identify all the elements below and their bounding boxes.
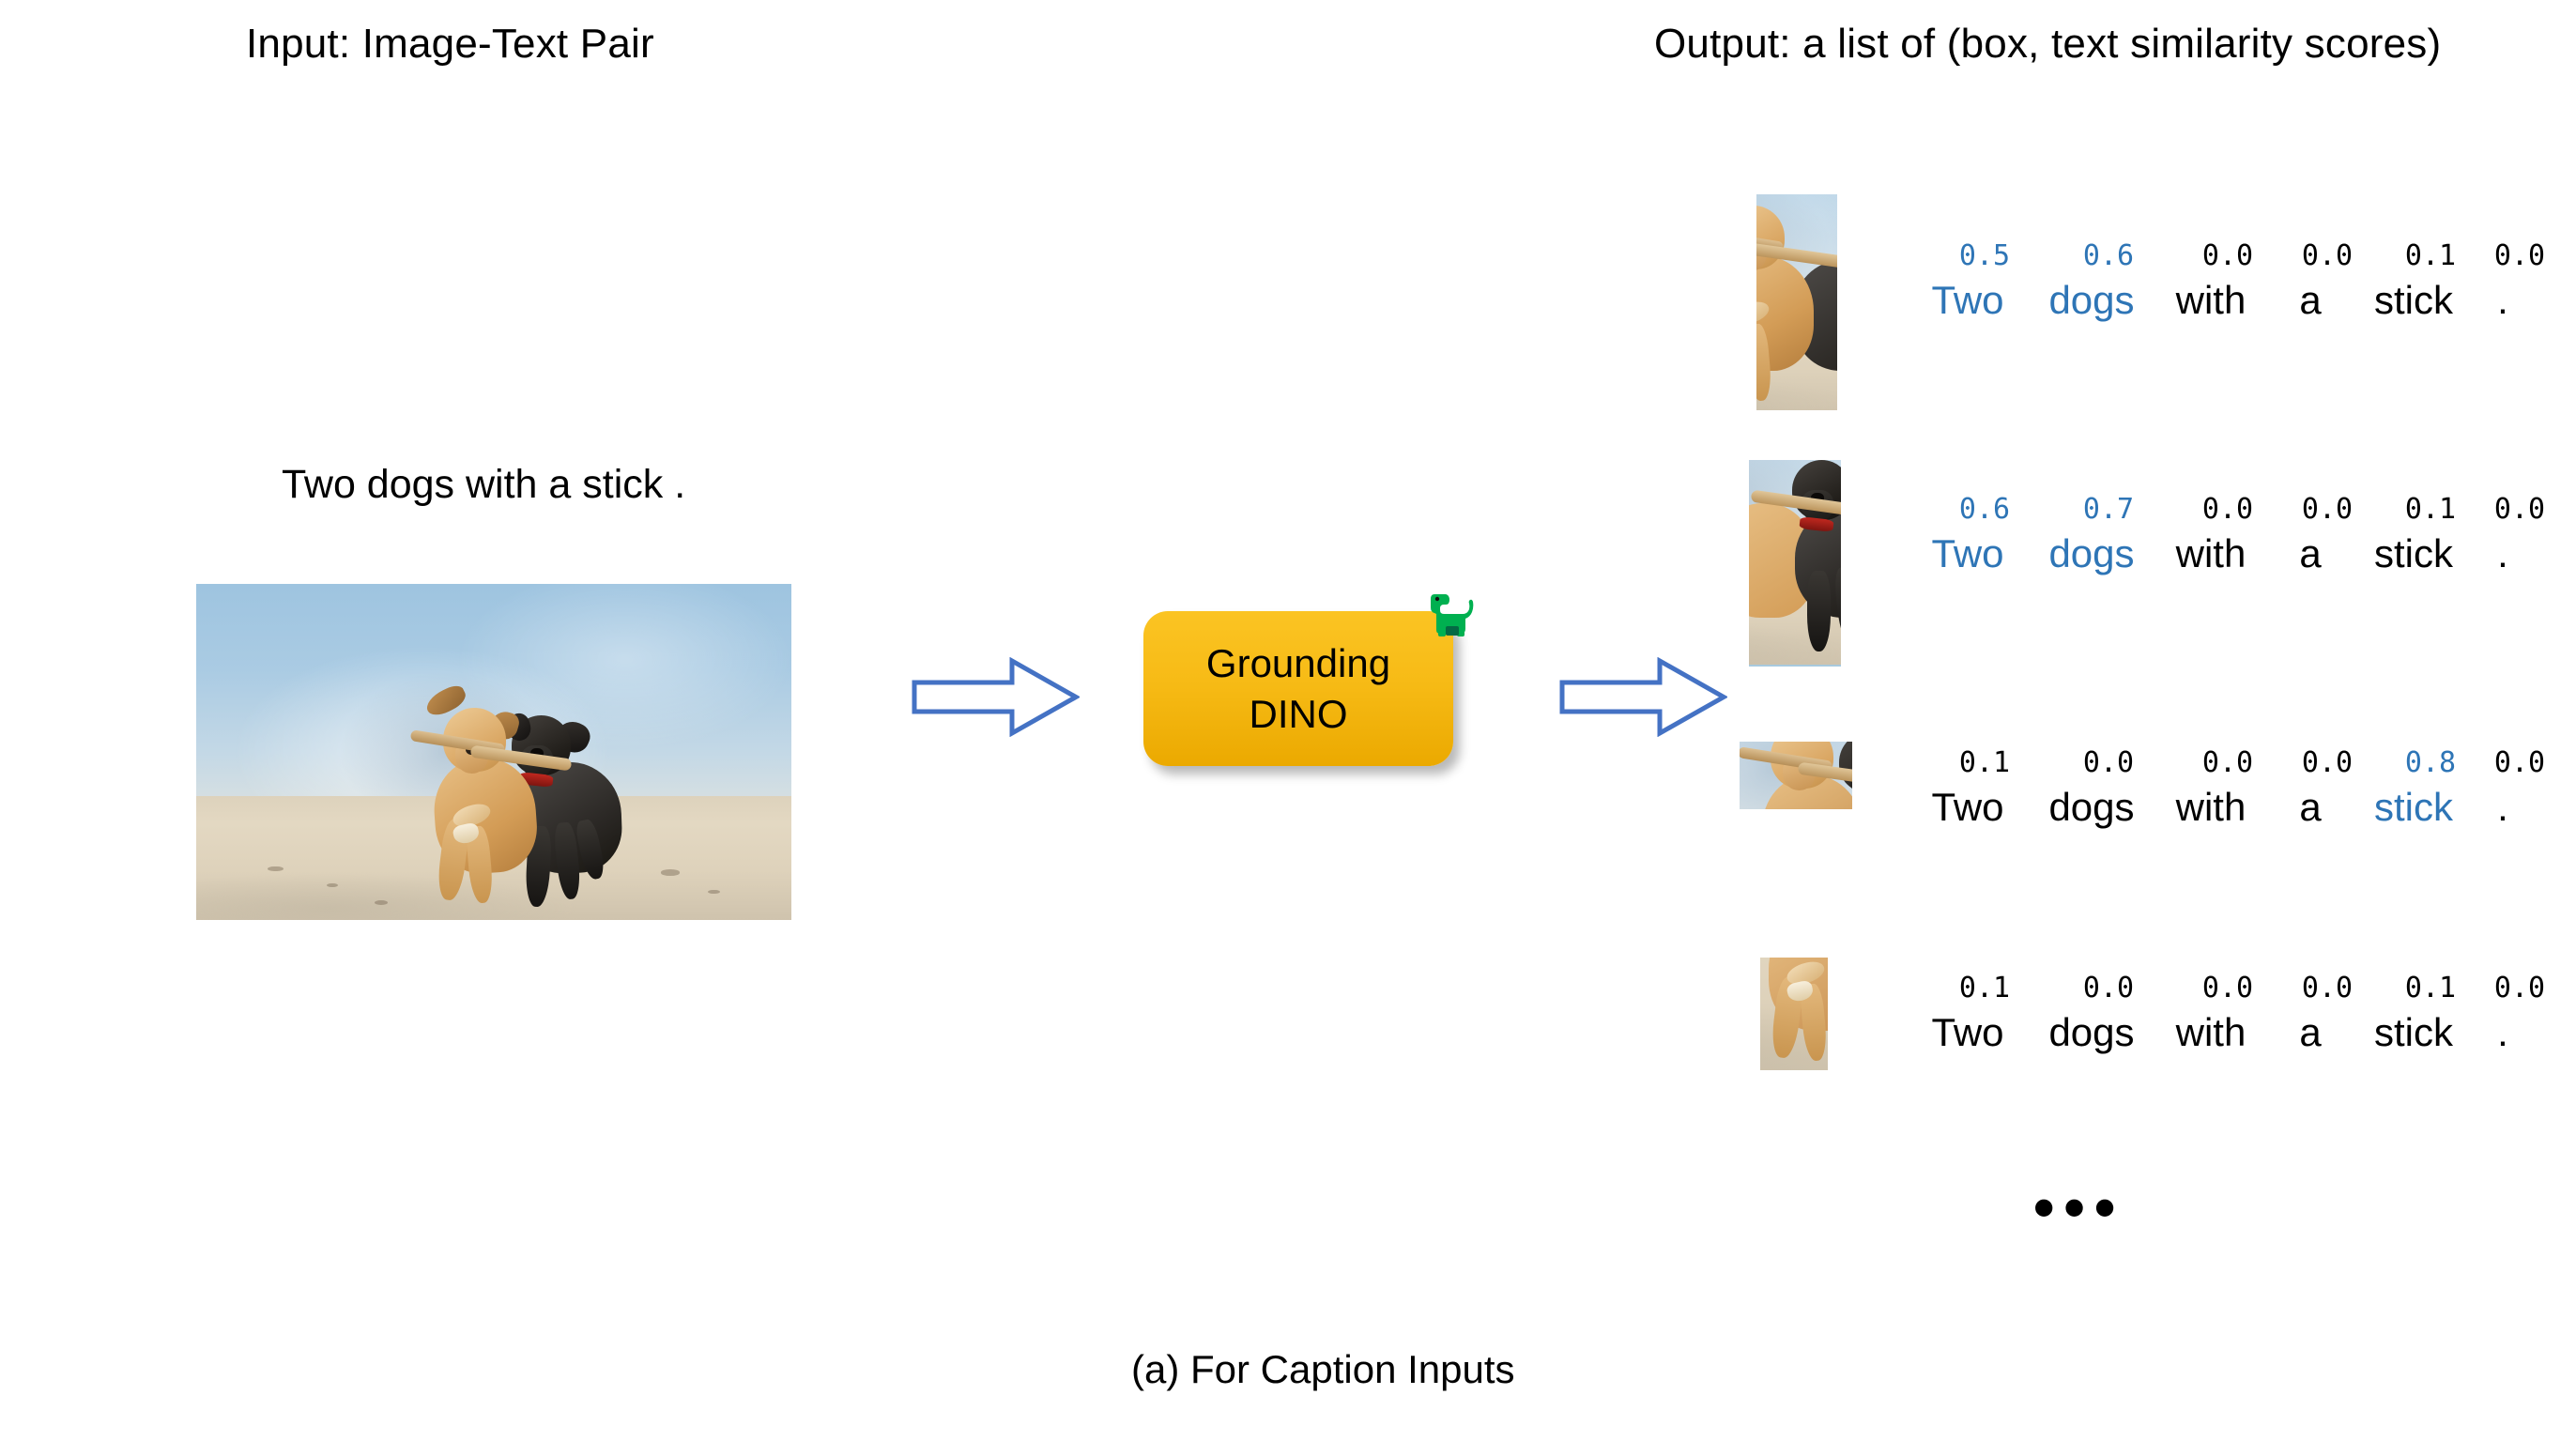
token-sequence: Twodogswithastick. <box>1906 1010 2531 1055</box>
token-word: with <box>2154 785 2268 830</box>
box-crop-thumbnail <box>1756 194 1837 410</box>
similarity-scores: 0.50.60.00.00.10.0 <box>1923 239 2548 272</box>
input-text-prompt: Two dogs with a stick . <box>282 462 685 508</box>
token-word: with <box>2154 278 2268 323</box>
score-value: 0.0 <box>2285 972 2369 1004</box>
score-value: 0.0 <box>2492 493 2548 526</box>
token-word: Two <box>1906 1010 2030 1055</box>
score-value: 0.0 <box>2492 746 2548 779</box>
score-value: 0.1 <box>1923 972 2047 1004</box>
figure-caption: (a) For Caption Inputs <box>1131 1347 1515 1392</box>
score-value: 0.0 <box>2170 493 2285 526</box>
ellipsis-more-boxes: ••• <box>2033 1173 2124 1242</box>
token-word: stick <box>2353 278 2475 323</box>
score-value: 0.0 <box>2170 746 2285 779</box>
box-crop-thumbnail <box>1760 958 1828 1070</box>
token-word: with <box>2154 531 2268 576</box>
dinosaur-icon <box>1419 589 1481 645</box>
beach-dogs-photo <box>196 584 791 920</box>
score-value: 0.0 <box>2170 972 2285 1004</box>
token-word: . <box>2475 278 2531 323</box>
token-word: . <box>2475 785 2531 830</box>
score-value: 0.8 <box>2369 746 2492 779</box>
token-word: stick <box>2353 531 2475 576</box>
arrow-input-to-model <box>911 657 1080 737</box>
score-value: 0.6 <box>2047 239 2170 272</box>
token-word: dogs <box>2030 785 2154 830</box>
similarity-scores: 0.60.70.00.00.10.0 <box>1923 493 2548 526</box>
token-word: a <box>2268 785 2353 830</box>
score-value: 0.0 <box>2285 239 2369 272</box>
score-value: 0.7 <box>2047 493 2170 526</box>
grounding-dino-box[interactable]: Grounding DINO <box>1143 611 1453 766</box>
token-word: dogs <box>2030 278 2154 323</box>
score-value: 0.1 <box>1923 746 2047 779</box>
token-word: a <box>2268 1010 2353 1055</box>
token-word: Two <box>1906 278 2030 323</box>
token-word: . <box>2475 531 2531 576</box>
model-name-line2: DINO <box>1250 689 1348 740</box>
similarity-scores: 0.10.00.00.00.80.0 <box>1923 746 2548 779</box>
token-word: stick <box>2353 1010 2475 1055</box>
score-value: 0.1 <box>2369 972 2492 1004</box>
score-value: 0.5 <box>1923 239 2047 272</box>
box-crop-thumbnail <box>1740 742 1852 809</box>
score-value: 0.1 <box>2369 239 2492 272</box>
similarity-scores: 0.10.00.00.00.10.0 <box>1923 972 2548 1004</box>
token-word: Two <box>1906 785 2030 830</box>
score-value: 0.0 <box>2492 972 2548 1004</box>
model-name-line1: Grounding <box>1206 638 1390 689</box>
token-word: . <box>2475 1010 2531 1055</box>
figure-canvas: Input: Image-Text Pair Output: a list of… <box>0 0 2576 1441</box>
token-sequence: Twodogswithastick. <box>1906 278 2531 323</box>
token-word: a <box>2268 278 2353 323</box>
token-word: dogs <box>2030 1010 2154 1055</box>
score-value: 0.0 <box>2285 746 2369 779</box>
input-image <box>196 584 791 920</box>
score-value: 0.0 <box>2170 239 2285 272</box>
score-value: 0.0 <box>2492 239 2548 272</box>
token-word: Two <box>1906 531 2030 576</box>
token-sequence: Twodogswithastick. <box>1906 531 2531 576</box>
token-sequence: Twodogswithastick. <box>1906 785 2531 830</box>
box-crop-thumbnail <box>1749 460 1841 667</box>
token-word: with <box>2154 1010 2268 1055</box>
token-word: a <box>2268 531 2353 576</box>
score-value: 0.1 <box>2369 493 2492 526</box>
token-word: stick <box>2353 785 2475 830</box>
arrow-model-to-output <box>1558 657 1727 737</box>
token-word: dogs <box>2030 531 2154 576</box>
input-heading: Input: Image-Text Pair <box>246 21 654 68</box>
score-value: 0.6 <box>1923 493 2047 526</box>
output-heading: Output: a list of (box, text similarity … <box>1654 21 2441 68</box>
score-value: 0.0 <box>2047 746 2170 779</box>
score-value: 0.0 <box>2285 493 2369 526</box>
score-value: 0.0 <box>2047 972 2170 1004</box>
